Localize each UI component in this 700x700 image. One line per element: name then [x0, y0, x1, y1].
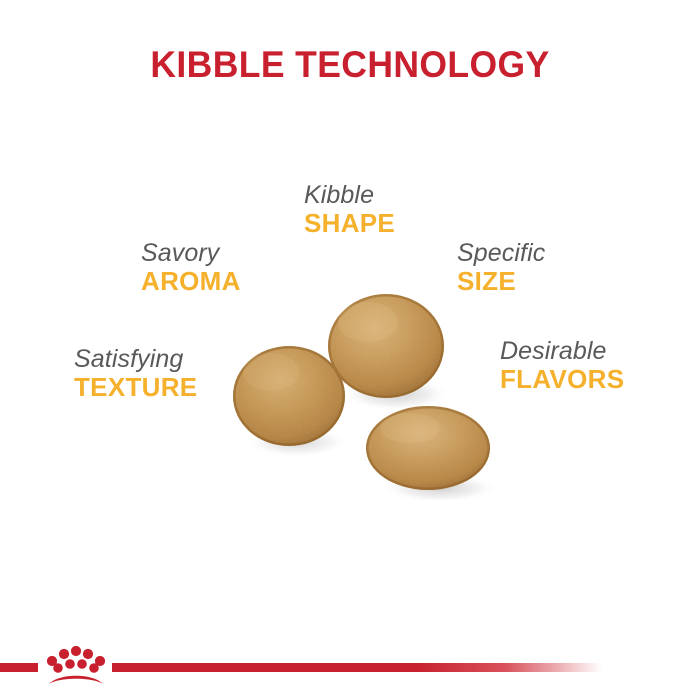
footer-brand-band	[0, 628, 700, 700]
footer-rule-right	[112, 663, 602, 672]
footer-rule-left	[0, 663, 38, 672]
feature-adjective-shape: Kibble	[304, 181, 395, 209]
feature-noun-texture: TEXTURE	[74, 373, 197, 402]
royal-canin-crown-icon	[45, 642, 107, 688]
page-title: KIBBLE TECHNOLOGY	[14, 46, 686, 85]
kibble-illustration	[225, 290, 545, 510]
kibble-technology-infographic: KIBBLE TECHNOLOGY Kibble SHAPE Savory AR…	[0, 0, 700, 700]
feature-adjective-aroma: Savory	[141, 239, 241, 267]
feature-adjective-size: Specific	[457, 239, 545, 267]
kibble-piece-front	[360, 400, 510, 510]
kibble-piece-left	[225, 338, 361, 464]
feature-noun-shape: SHAPE	[304, 209, 395, 238]
feature-label-shape: Kibble SHAPE	[304, 181, 395, 238]
feature-label-texture: Satisfying TEXTURE	[74, 345, 197, 402]
feature-adjective-texture: Satisfying	[74, 345, 197, 373]
feature-label-aroma: Savory AROMA	[141, 239, 241, 296]
feature-label-size: Specific SIZE	[457, 239, 545, 296]
